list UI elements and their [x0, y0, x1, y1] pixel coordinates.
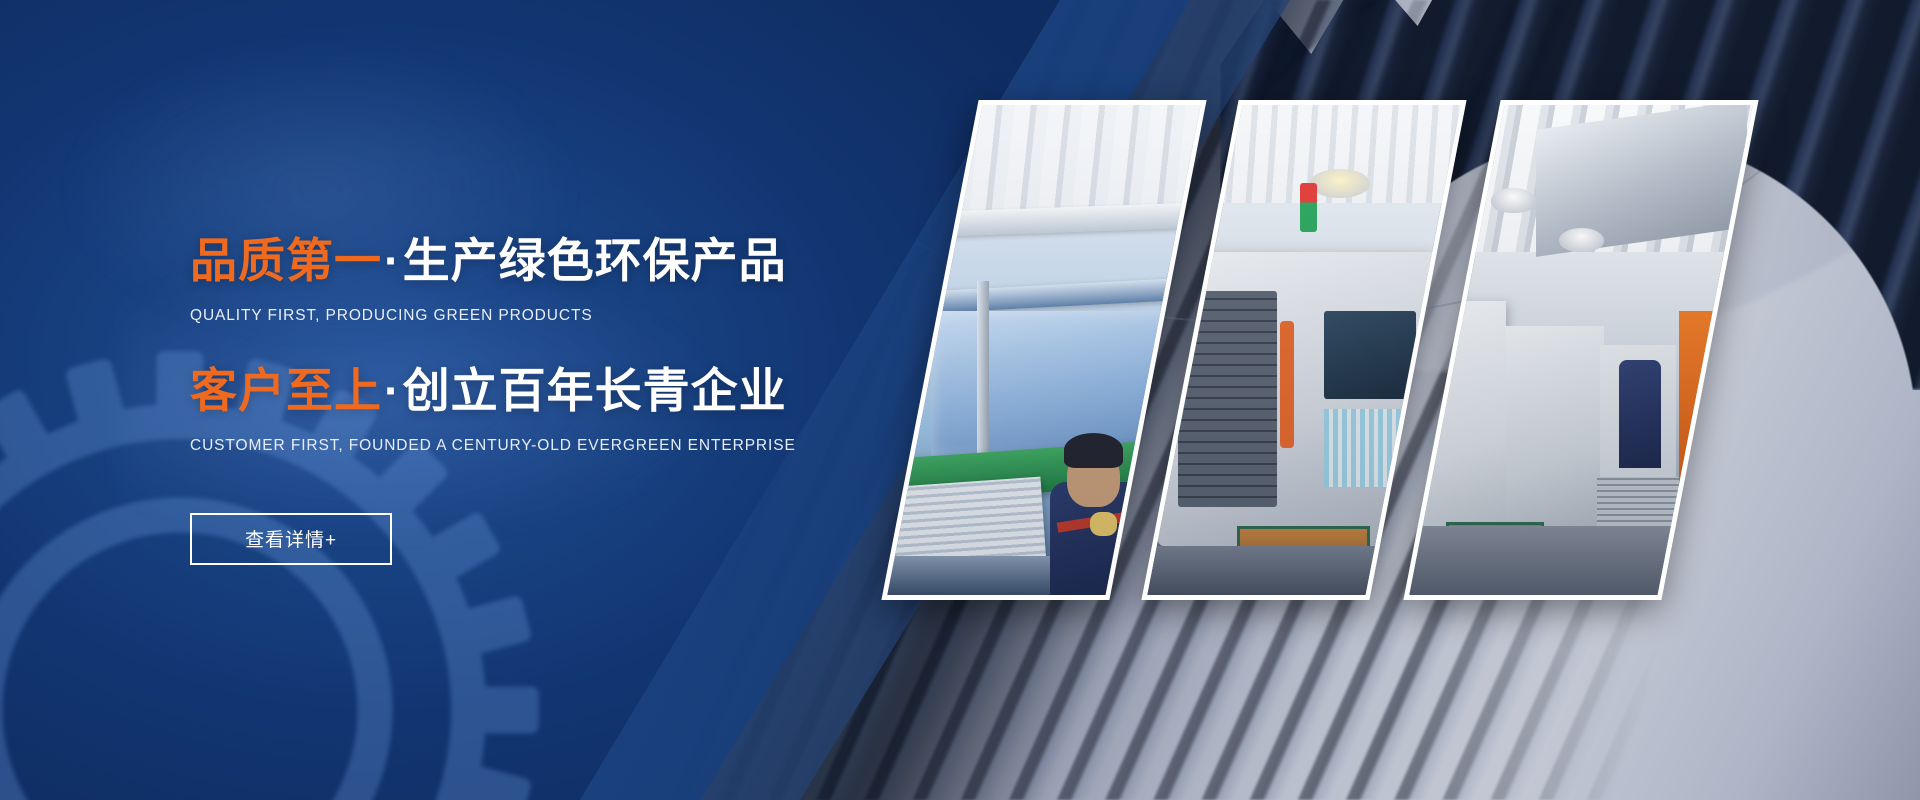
- headline-primary-separator: ·: [382, 234, 403, 287]
- headline-spacer: [190, 325, 1010, 365]
- hero-banner: 品质第一·生产绿色环保产品 QUALITY FIRST, PRODUCING G…: [0, 0, 1920, 800]
- headline-primary-accent: 品质第一: [190, 234, 382, 287]
- photo-machine-hall[interactable]: [1403, 100, 1758, 600]
- headline-secondary-rest: 创立百年长青企业: [403, 364, 787, 417]
- headline-secondary-separator: ·: [382, 364, 403, 417]
- subtitle-secondary: CUSTOMER FIRST, FOUNDED A CENTURY-OLD EV…: [190, 437, 1010, 455]
- hero-text-block: 品质第一·生产绿色环保产品 QUALITY FIRST, PRODUCING G…: [190, 0, 1010, 800]
- headline-secondary: 客户至上·创立百年长青企业: [190, 365, 1010, 417]
- view-details-button[interactable]: 查看详情+: [190, 513, 392, 565]
- subtitle-primary: QUALITY FIRST, PRODUCING GREEN PRODUCTS: [190, 307, 1010, 325]
- headline-primary-rest: 生产绿色环保产品: [403, 234, 787, 287]
- headline-secondary-accent: 客户至上: [190, 364, 382, 417]
- headline-primary: 品质第一·生产绿色环保产品: [190, 235, 1010, 287]
